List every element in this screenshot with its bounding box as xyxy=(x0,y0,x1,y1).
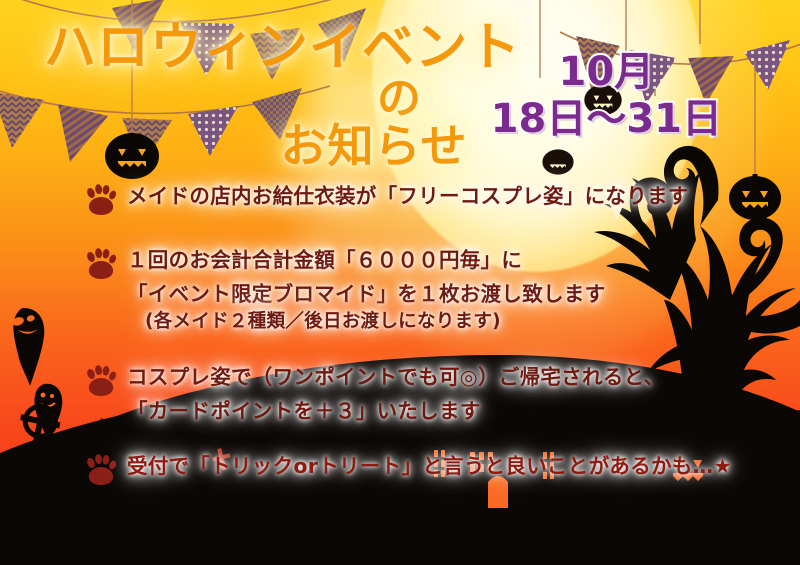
title-line-3: お知らせ xyxy=(44,122,524,170)
paw-print-icon xyxy=(84,365,118,397)
list-item-text: １回のお会計合計金額「６０００円毎」に xyxy=(127,246,522,275)
list-item: コスプレ姿で（ワンポイントでも可◎）ご帰宅されると、 「カードポイントを＋３」い… xyxy=(0,363,800,426)
list-item-text: 受付で「トリックorトリート」と言うと良いことがあるかも…★ xyxy=(127,452,732,481)
poster-title: ハロウィンイベント の お知らせ xyxy=(44,22,524,170)
event-date: 10月 18日〜31日 xyxy=(491,50,722,142)
paw-print-icon xyxy=(84,248,118,280)
event-details-list: メイドの店内お給仕衣装が「フリーコスプレ姿」になります １回のお会計合計金額「６… xyxy=(0,182,800,499)
paw-print-icon xyxy=(84,454,118,486)
paw-print-icon xyxy=(84,184,118,216)
list-item-text: 「イベント限定ブロマイド」を１枚お渡し致します xyxy=(0,280,800,309)
title-line-2: の xyxy=(44,76,524,122)
halloween-event-poster: ハロウィンイベント の お知らせ 10月 18日〜31日 メイドの店内お給仕 xyxy=(0,0,800,565)
list-item-text: 「カードポイントを＋３」いたします xyxy=(0,397,800,426)
list-item: １回のお会計合計金額「６０００円毎」に 「イベント限定ブロマイド」を１枚お渡し致… xyxy=(0,246,800,335)
list-item: メイドの店内お給仕衣装が「フリーコスプレ姿」になります xyxy=(0,182,800,216)
title-line-1: ハロウィンイベント xyxy=(44,22,524,74)
list-item-text: コスプレ姿で（ワンポイントでも可◎）ご帰宅されると、 xyxy=(127,363,664,392)
event-month: 10月 xyxy=(491,50,722,95)
list-item-note: (各メイド２種類／後日お渡しになります) xyxy=(0,309,800,335)
list-item: 受付で「トリックorトリート」と言うと良いことがあるかも…★ xyxy=(0,452,800,486)
list-item-text: メイドの店内お給仕衣装が「フリーコスプレ姿」になります xyxy=(127,182,689,211)
event-day-range: 18日〜31日 xyxy=(491,97,722,142)
